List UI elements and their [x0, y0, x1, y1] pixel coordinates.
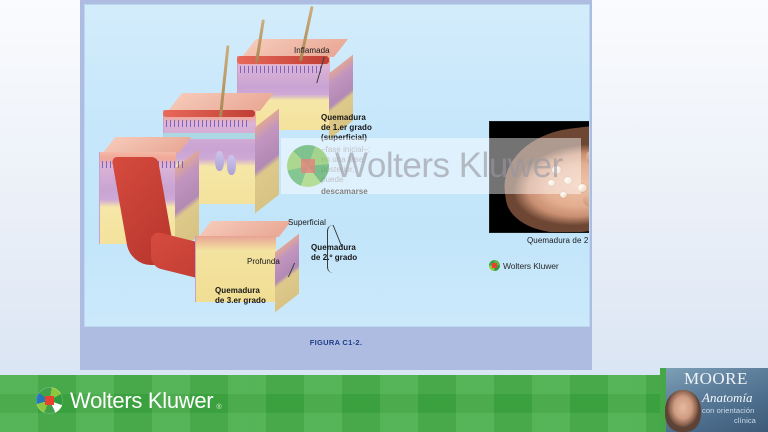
registered-trademark-symbol: ®	[216, 404, 221, 411]
badge-subtitle: Anatomía	[702, 390, 753, 406]
label-first-degree-l4: –fase inicial–;	[321, 145, 370, 155]
label-inflamada: Inflamada	[294, 46, 330, 56]
photo-credit-logo: Wolters Kluwer	[489, 260, 559, 271]
label-first-degree-l8: descamarse	[321, 187, 368, 197]
label-third-degree-l1: Quemadura	[215, 286, 260, 296]
photo-credit-text: Wolters Kluwer	[503, 261, 559, 271]
wolters-kluwer-globe-icon	[36, 387, 63, 414]
label-first-degree-l5: en una fase	[321, 155, 363, 165]
footer-bar: Wolters Kluwer ®	[0, 375, 768, 432]
badge-green-stripe	[660, 368, 666, 432]
blister	[548, 180, 555, 186]
figure-caption: FIGURA C1-2.	[84, 338, 588, 347]
blister	[564, 177, 572, 184]
badge-line3: clínica	[734, 416, 756, 425]
wolters-kluwer-globe-icon	[489, 260, 500, 271]
label-second-degree-l2: de 2.º grado	[311, 253, 357, 263]
badge-title: MOORE	[684, 369, 748, 389]
hand-image	[498, 121, 590, 233]
slide-page: Inflamada Quemadura de 1.er grado (super…	[0, 0, 768, 375]
label-profunda: Profunda	[247, 257, 280, 267]
blister	[560, 192, 567, 198]
badge-line2: con orientación	[702, 406, 754, 415]
label-second-degree-l1: Quemadura	[311, 243, 356, 253]
moore-book-badge: MOORE Anatomía con orientación clínica	[660, 368, 768, 432]
label-first-degree-l6: posterior,	[321, 165, 354, 175]
label-first-degree-l1: Quemadura	[321, 113, 366, 123]
label-superficial: Superficial	[288, 218, 326, 228]
burn-depth-illustration: Inflamada Quemadura de 1.er grado (super…	[84, 4, 590, 327]
footer-brand-text: Wolters Kluwer	[70, 388, 213, 414]
photo-caption: Quemadura de 2.º grado	[489, 236, 590, 245]
second-degree-burn-photo	[489, 121, 590, 233]
blister	[578, 184, 587, 192]
blister	[552, 166, 561, 174]
footer-brand-logo: Wolters Kluwer ®	[36, 387, 222, 414]
label-first-degree-l3: (superficial)	[321, 133, 367, 143]
label-first-degree-l7: puede	[321, 175, 344, 185]
label-third-degree-l2: de 3.er grado	[215, 296, 266, 306]
author-portrait	[665, 390, 701, 432]
label-first-degree-l2: de 1.er grado	[321, 123, 372, 133]
finger	[589, 164, 590, 189]
